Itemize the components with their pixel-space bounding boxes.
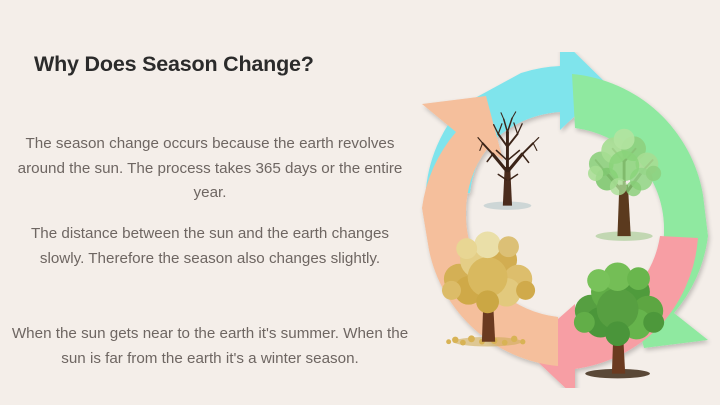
slide-canvas: Why Does Season Change? The season chang… bbox=[0, 0, 720, 405]
body-paragraph-3: When the sun gets near to the earth it's… bbox=[10, 322, 410, 371]
season-cycle-diagram bbox=[412, 52, 716, 388]
body-paragraph-1: The season change occurs because the ear… bbox=[10, 132, 410, 206]
arrow-ring bbox=[422, 52, 708, 388]
body-paragraph-2: The distance between the sun and the ear… bbox=[10, 222, 410, 271]
text-column: Why Does Season Change? The season chang… bbox=[0, 0, 420, 405]
page-title: Why Does Season Change? bbox=[34, 52, 414, 78]
tree-trunk bbox=[503, 167, 512, 206]
